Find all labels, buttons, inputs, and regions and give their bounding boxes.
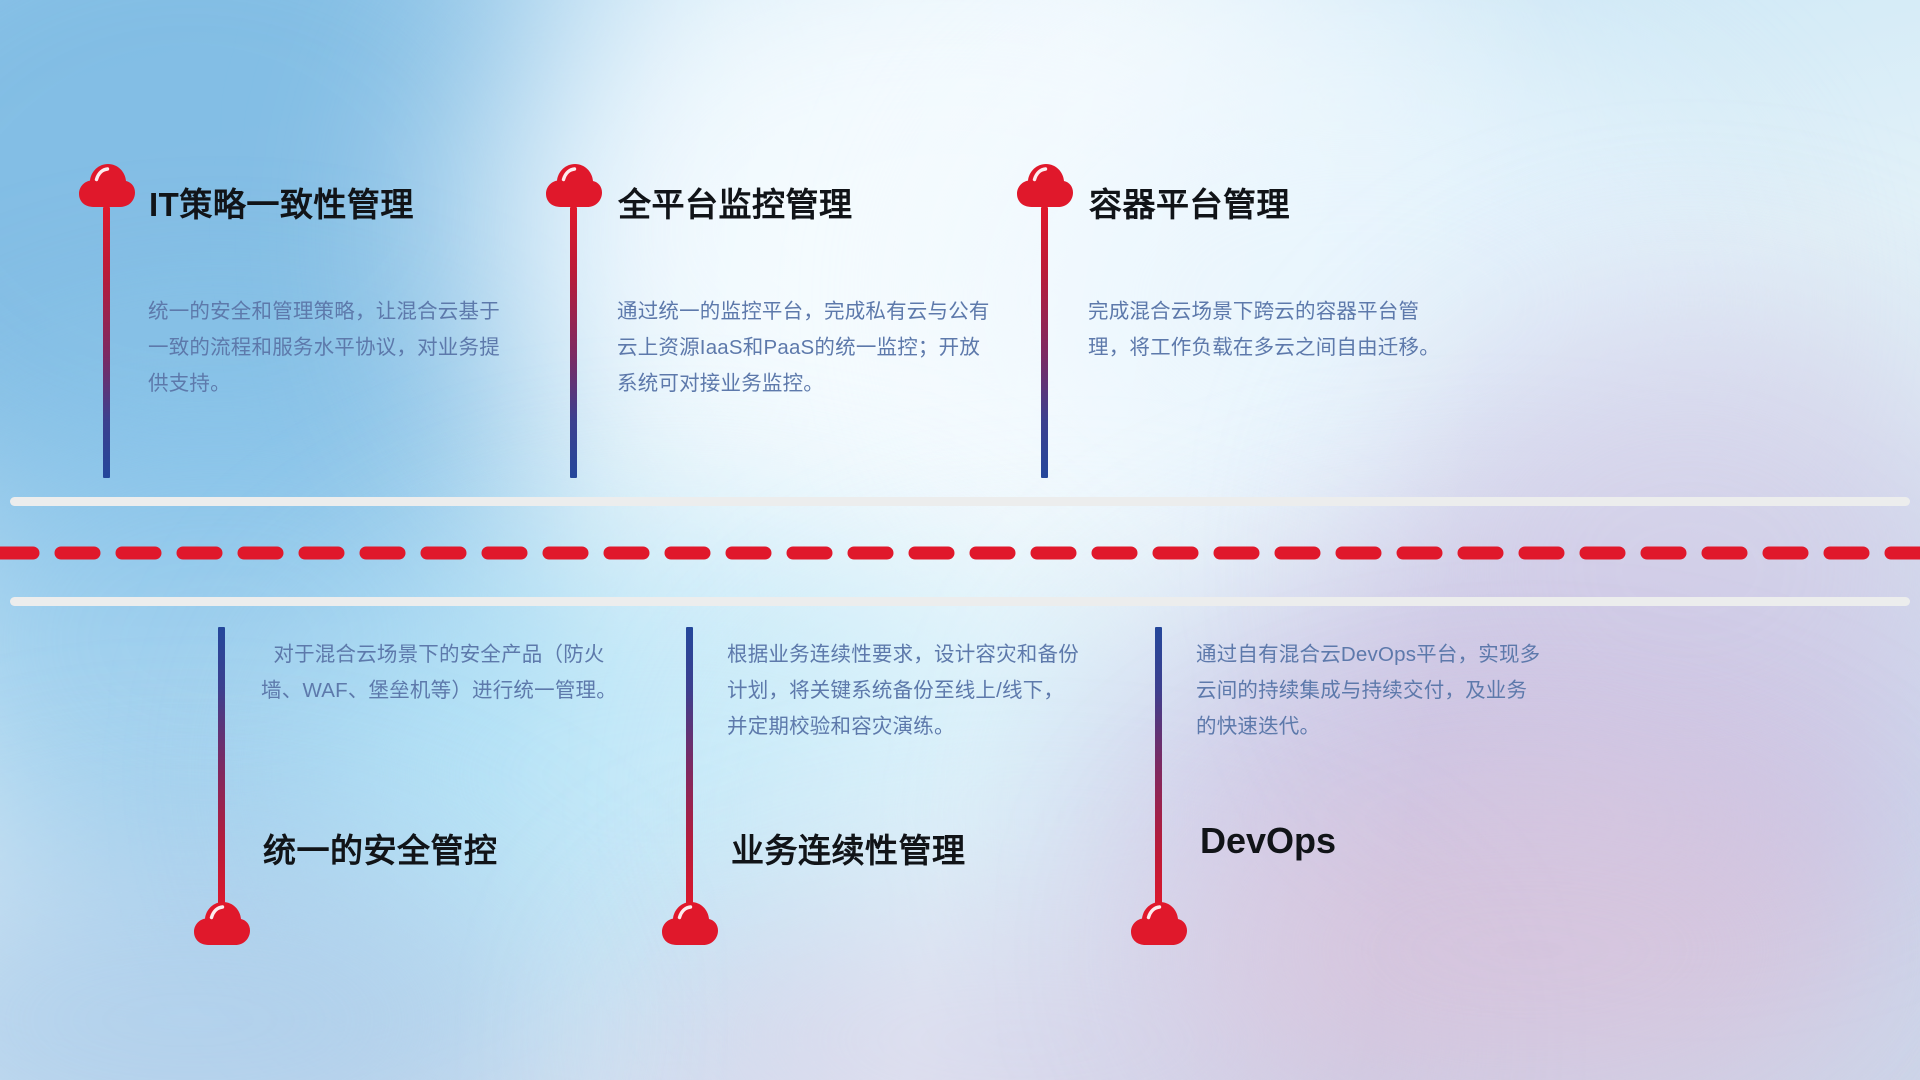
timeline-stem — [1155, 627, 1162, 912]
capability-card-devops[interactable]: 通过自有混合云DevOps平台，实现多云间的持续集成与持续交付，及业务的快速迭代… — [0, 0, 1700, 1080]
cloud-icon — [1128, 898, 1190, 948]
card-heading: DevOps — [1200, 820, 1336, 862]
card-body: 通过自有混合云DevOps平台，实现多云间的持续集成与持续交付，及业务的快速迭代… — [1196, 637, 1544, 745]
